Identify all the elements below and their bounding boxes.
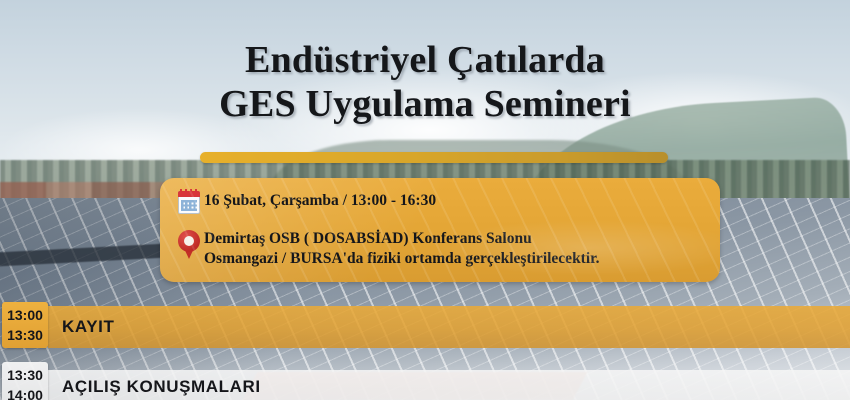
title-divider-rule <box>200 152 668 163</box>
event-date-row: 16 Şubat, Çarşamba / 13:00 - 16:30 <box>174 190 436 214</box>
schedule-row-label: KAYIT <box>62 317 114 337</box>
schedule-row: AÇILIŞ KONUŞMALARI <box>0 370 850 400</box>
calendar-icon <box>174 190 204 214</box>
event-date-text: 16 Şubat, Çarşamba / 13:00 - 16:30 <box>204 190 436 211</box>
event-info-panel: 16 Şubat, Çarşamba / 13:00 - 16:30 Demir… <box>160 178 720 282</box>
event-location-row: Demirtaş OSB ( DOSABSİAD) Konferans Salo… <box>174 228 600 269</box>
event-poster: Endüstriyel Çatılarda GES Uygulama Semin… <box>0 0 850 400</box>
event-location-text: Demirtaş OSB ( DOSABSİAD) Konferans Salo… <box>204 228 600 269</box>
schedule-time-end: 14:00 <box>7 385 43 400</box>
schedule-time-start: 13:30 <box>7 365 43 385</box>
map-pin-icon <box>174 228 204 260</box>
schedule-time-badge: 13:00 13:30 <box>2 302 48 348</box>
schedule-time-end: 13:30 <box>7 325 43 345</box>
schedule-row-background <box>48 306 850 348</box>
schedule-row: KAYIT <box>0 306 850 348</box>
event-location-line-1: Demirtaş OSB ( DOSABSİAD) Konferans Salo… <box>204 230 532 247</box>
schedule-time-start: 13:00 <box>7 305 43 325</box>
schedule-time-badge: 13:30 14:00 <box>2 362 48 400</box>
event-location-line-2: Osmangazi / BURSA'da fiziki ortamda gerç… <box>204 249 600 269</box>
schedule-row-label: AÇILIŞ KONUŞMALARI <box>62 377 261 397</box>
